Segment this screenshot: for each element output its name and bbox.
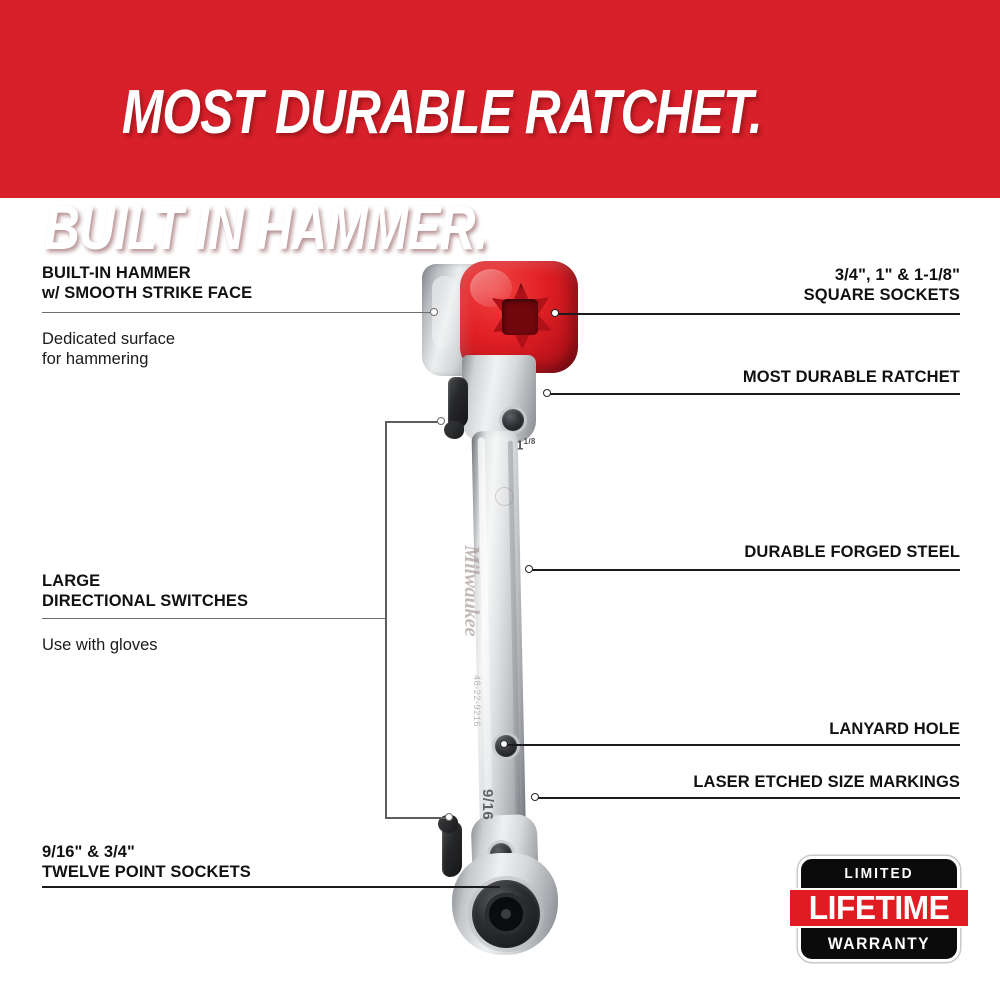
leader-line-twelve-point-sockets — [42, 886, 500, 888]
leader-dot-square-sockets — [551, 309, 559, 317]
upper-pivot-pin — [502, 409, 524, 431]
callout-directional-switches-sub: Use with gloves — [42, 635, 342, 655]
callout-laser-etched: LASER ETCHED SIZE MARKINGS — [540, 773, 960, 793]
infographic-canvas: MOST DURABLE RATCHET. BUILT IN HAMMER. 1… — [0, 0, 1000, 1000]
callout-directional-switches-sub-wrap: Use with gloves — [42, 626, 342, 655]
callout-square-sockets-title: 3/4", 1" & 1-1/8" SQUARE SOCKETS — [600, 266, 960, 305]
callout-most-durable-ratchet-title: MOST DURABLE RATCHET — [600, 368, 960, 388]
badge-limited-text: LIMITED — [804, 865, 953, 882]
callout-most-durable-ratchet: MOST DURABLE RATCHET — [600, 368, 960, 388]
upper-neck — [462, 355, 536, 443]
bracket-top-arm — [385, 421, 438, 423]
callout-twelve-point-sockets-title: 9/16" & 3/4" TWELVE POINT SOCKETS — [42, 843, 422, 882]
upper-switch-tab — [444, 421, 464, 439]
twelve-point-teeth — [485, 893, 527, 935]
callout-built-in-hammer-sub-wrap: Dedicated surface for hammering — [42, 320, 362, 369]
leader-line-most-durable-ratchet — [549, 393, 960, 395]
square-socket-inner-bore — [502, 299, 538, 335]
twelve-point-socket — [472, 880, 540, 948]
brand-logo: Milwaukee — [454, 545, 484, 665]
badge-lifetime-text: LIFETIME — [794, 888, 965, 928]
model-number-etching: 48-22-9216 — [472, 675, 482, 765]
callout-lanyard-hole-title: LANYARD HOLE — [600, 720, 960, 740]
callout-durable-forged-steel: DURABLE FORGED STEEL — [600, 543, 960, 563]
leader-dot-durable-forged-steel — [525, 565, 533, 573]
headline-line-1: MOST DURABLE RATCHET. — [122, 78, 762, 147]
leader-dot-most-durable-ratchet — [543, 389, 551, 397]
leader-line-lanyard-hole — [506, 744, 960, 746]
callout-directional-switches: LARGE DIRECTIONAL SWITCHES — [42, 572, 382, 611]
leader-dot-lower-switch — [445, 813, 453, 821]
callout-laser-etched-title: LASER ETCHED SIZE MARKINGS — [540, 773, 960, 793]
shaft-emblem-icon — [495, 487, 514, 506]
callout-built-in-hammer-title: BUILT-IN HAMMER w/ SMOOTH STRIKE FACE — [42, 264, 402, 303]
leader-dot-laser-etched — [531, 793, 539, 801]
callout-built-in-hammer: BUILT-IN HAMMER w/ SMOOTH STRIKE FACE — [42, 264, 402, 303]
leader-line-durable-forged-steel — [531, 569, 960, 571]
leader-line-laser-etched — [537, 797, 960, 799]
callout-square-sockets: 3/4", 1" & 1-1/8" SQUARE SOCKETS — [600, 266, 960, 305]
callout-twelve-point-sockets: 9/16" & 3/4" TWELVE POINT SOCKETS — [42, 843, 422, 882]
leader-dot-built-in-hammer — [430, 308, 438, 316]
callout-durable-forged-steel-title: DURABLE FORGED STEEL — [600, 543, 960, 563]
leader-line-directional-switches — [42, 618, 386, 619]
lower-size-marking: 9/16 — [479, 789, 496, 820]
header-banner: MOST DURABLE RATCHET. BUILT IN HAMMER. — [0, 0, 1000, 198]
callout-built-in-hammer-sub: Dedicated surface for hammering — [42, 329, 362, 369]
leader-dot-upper-switch — [437, 417, 445, 425]
bracket-vertical — [385, 421, 387, 819]
bracket-bottom-arm — [385, 817, 446, 819]
leader-line-square-sockets — [556, 313, 960, 315]
limited-lifetime-warranty-badge: LIMITED LIFETIME WARRANTY — [790, 856, 968, 962]
badge-warranty-text: WARRANTY — [804, 934, 953, 954]
callout-lanyard-hole: LANYARD HOLE — [600, 720, 960, 740]
leader-dot-lanyard-hole — [500, 740, 508, 748]
callout-directional-switches-title: LARGE DIRECTIONAL SWITCHES — [42, 572, 382, 611]
headline-line-2: BUILT IN HAMMER. — [44, 200, 762, 258]
leader-line-built-in-hammer — [42, 312, 434, 313]
product-image-ratchet-wrench: 1x1x11/8 Milwaukee 48-22-9216 9/16 — [400, 255, 610, 955]
